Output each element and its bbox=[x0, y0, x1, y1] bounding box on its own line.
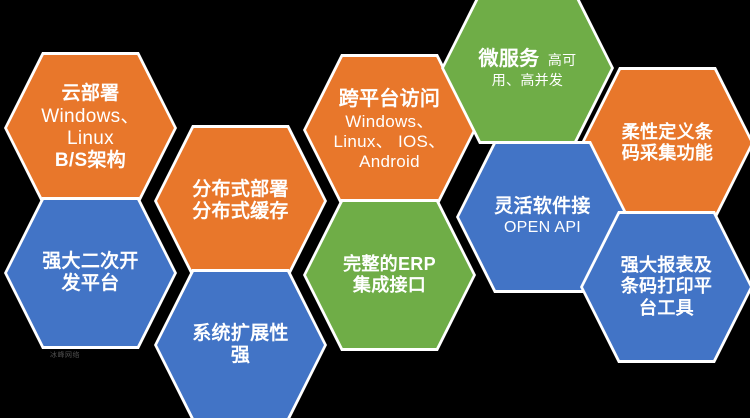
hexagon-line-report-barcode-print-2: 台工具 bbox=[595, 298, 739, 319]
hexagon-label-secondary-development: 强大二次开发平台 bbox=[19, 251, 163, 296]
hexagon-line-cloud-deployment-3: B/S架构 bbox=[19, 150, 163, 172]
hexagon-line-cross-platform-access-1: Windows、 bbox=[318, 112, 462, 132]
hexagon-line-distributed-deployment-1: 分布式缓存 bbox=[169, 201, 313, 223]
hexagon-line-report-barcode-print-0: 强大报表及 bbox=[595, 255, 739, 276]
hexagon-line-flexible-software-api-1: OPEN API bbox=[471, 219, 615, 238]
hexagon-label-report-barcode-print: 强大报表及条码打印平台工具 bbox=[595, 255, 739, 319]
hexagon-line-suffix-microservices-0: 高可 bbox=[539, 52, 576, 68]
hexagon-line-cloud-deployment-1: Windows、 bbox=[19, 106, 163, 128]
hexagon-line-erp-integration-1: 集成接口 bbox=[318, 275, 462, 296]
hexagon-line-distributed-deployment-0: 分布式部署 bbox=[169, 179, 313, 201]
hexagon-line-cross-platform-access-3: Android bbox=[318, 152, 462, 172]
hexagon-line-cross-platform-access-2: Linux、 IOS、 bbox=[318, 132, 462, 152]
hexagon-line-cloud-deployment-2: Linux bbox=[19, 128, 163, 150]
hexagon-label-cross-platform-access: 跨平台访问Windows、Linux、 IOS、Android bbox=[318, 88, 462, 172]
hexagon-line-flexible-barcode-collection-0: 柔性定义条 bbox=[596, 122, 740, 143]
hexagon-line-microservices-1: 用、高并发 bbox=[456, 72, 600, 89]
hexagon-infographic-canvas: 云部署Windows、LinuxB/S架构分布式部署分布式缓存跨平台访问Wind… bbox=[0, 0, 750, 418]
hexagon-line-cross-platform-access-0: 跨平台访问 bbox=[318, 88, 462, 112]
hexagon-line-secondary-development-0: 强大二次开 bbox=[19, 251, 163, 273]
hexagon-label-cloud-deployment: 云部署Windows、LinuxB/S架构 bbox=[19, 83, 163, 173]
hexagon-line-system-scalability-1: 强 bbox=[169, 345, 313, 367]
hexagon-label-system-scalability: 系统扩展性强 bbox=[169, 323, 313, 368]
hexagon-line-secondary-development-1: 发平台 bbox=[19, 273, 163, 295]
hexagon-line-cloud-deployment-0: 云部署 bbox=[19, 83, 163, 105]
hexagon-label-microservices: 微服务 高可用、高并发 bbox=[456, 48, 600, 88]
hexagon-label-flexible-barcode-collection: 柔性定义条码采集功能 bbox=[596, 122, 740, 164]
hexagon-line-flexible-software-api-0: 灵活软件接 bbox=[471, 196, 615, 218]
hexagon-label-distributed-deployment: 分布式部署分布式缓存 bbox=[169, 179, 313, 224]
hexagon-line-flexible-barcode-collection-1: 码采集功能 bbox=[596, 143, 740, 164]
hexagon-label-erp-integration: 完整的ERP集成接口 bbox=[318, 254, 462, 296]
hexagon-label-flexible-software-api: 灵活软件接OPEN API bbox=[471, 196, 615, 237]
hexagon-line-erp-integration-0: 完整的ERP bbox=[318, 254, 462, 275]
hexagon-line-system-scalability-0: 系统扩展性 bbox=[169, 323, 313, 345]
hexagon-line-report-barcode-print-1: 条码打印平 bbox=[595, 276, 739, 297]
hexagon-line-microservices-0: 微服务 高可 bbox=[456, 48, 600, 72]
watermark-text: 冰峰网络 bbox=[50, 350, 80, 360]
